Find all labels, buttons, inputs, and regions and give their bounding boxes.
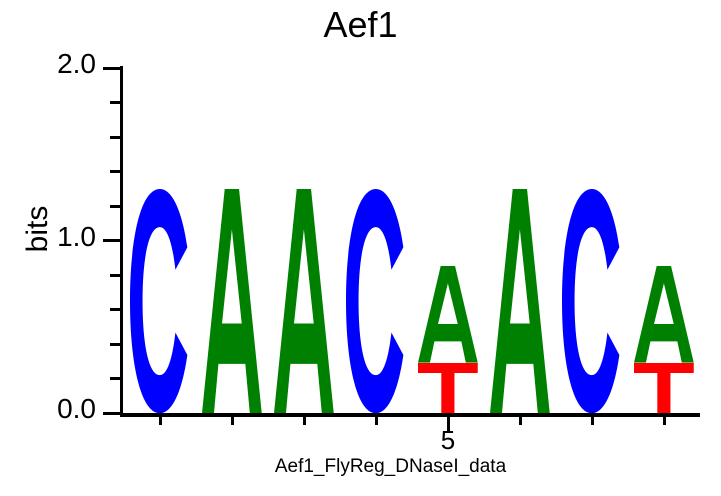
y-tick-major — [103, 67, 120, 70]
y-tick-minor — [110, 343, 120, 346]
logo-letter-c — [562, 189, 622, 413]
x-tick — [303, 417, 306, 425]
figure-caption: Aef1_FlyReg_DNaseI_data — [0, 456, 721, 478]
logo-stack — [490, 189, 550, 413]
logo-stack — [202, 189, 262, 413]
x-tick — [375, 417, 378, 425]
caption-text: Aef1_FlyReg_DNaseI_data — [215, 456, 506, 478]
y-tick-minor — [110, 205, 120, 208]
y-tick-major — [103, 412, 120, 415]
y-tick-label: 1.0 — [24, 223, 96, 251]
x-tick — [591, 417, 594, 425]
logo-letter-a — [274, 189, 334, 413]
y-tick-major — [103, 239, 120, 242]
logo-stack — [634, 266, 694, 413]
x-tick-label: 5 — [428, 425, 468, 456]
y-tick-minor — [110, 274, 120, 277]
y-tick-minor — [110, 136, 120, 139]
logo-stack — [562, 189, 622, 413]
x-axis-line — [120, 413, 700, 417]
y-tick-minor — [110, 377, 120, 380]
y-tick-label: 0.0 — [24, 395, 96, 423]
logo-letter-t — [634, 363, 694, 413]
page-title: Aef1 — [0, 4, 721, 46]
logo-letter-a — [490, 189, 550, 413]
x-tick — [231, 417, 234, 425]
logo-plot-area — [124, 68, 700, 413]
logo-stack — [418, 266, 478, 413]
logo-letter-c — [346, 189, 406, 413]
x-tick — [159, 417, 162, 425]
y-tick-minor — [110, 308, 120, 311]
logo-letter-a — [418, 266, 478, 363]
y-tick-minor — [110, 170, 120, 173]
x-tick — [663, 417, 666, 425]
logo-letter-a — [634, 266, 694, 363]
logo-stack — [274, 189, 334, 413]
logo-letter-c — [130, 189, 190, 413]
y-tick-label: 2.0 — [24, 50, 96, 78]
x-tick — [519, 417, 522, 425]
logo-letter-a — [202, 189, 262, 413]
y-axis-line — [120, 66, 123, 416]
logo-stack — [346, 189, 406, 413]
sequence-logo-figure: Aef1 bits 2.01.00.0 5 Aef1_FlyReg_DNaseI… — [0, 0, 721, 496]
logo-stack — [130, 189, 190, 413]
logo-letter-t — [418, 363, 478, 413]
y-tick-minor — [110, 101, 120, 104]
